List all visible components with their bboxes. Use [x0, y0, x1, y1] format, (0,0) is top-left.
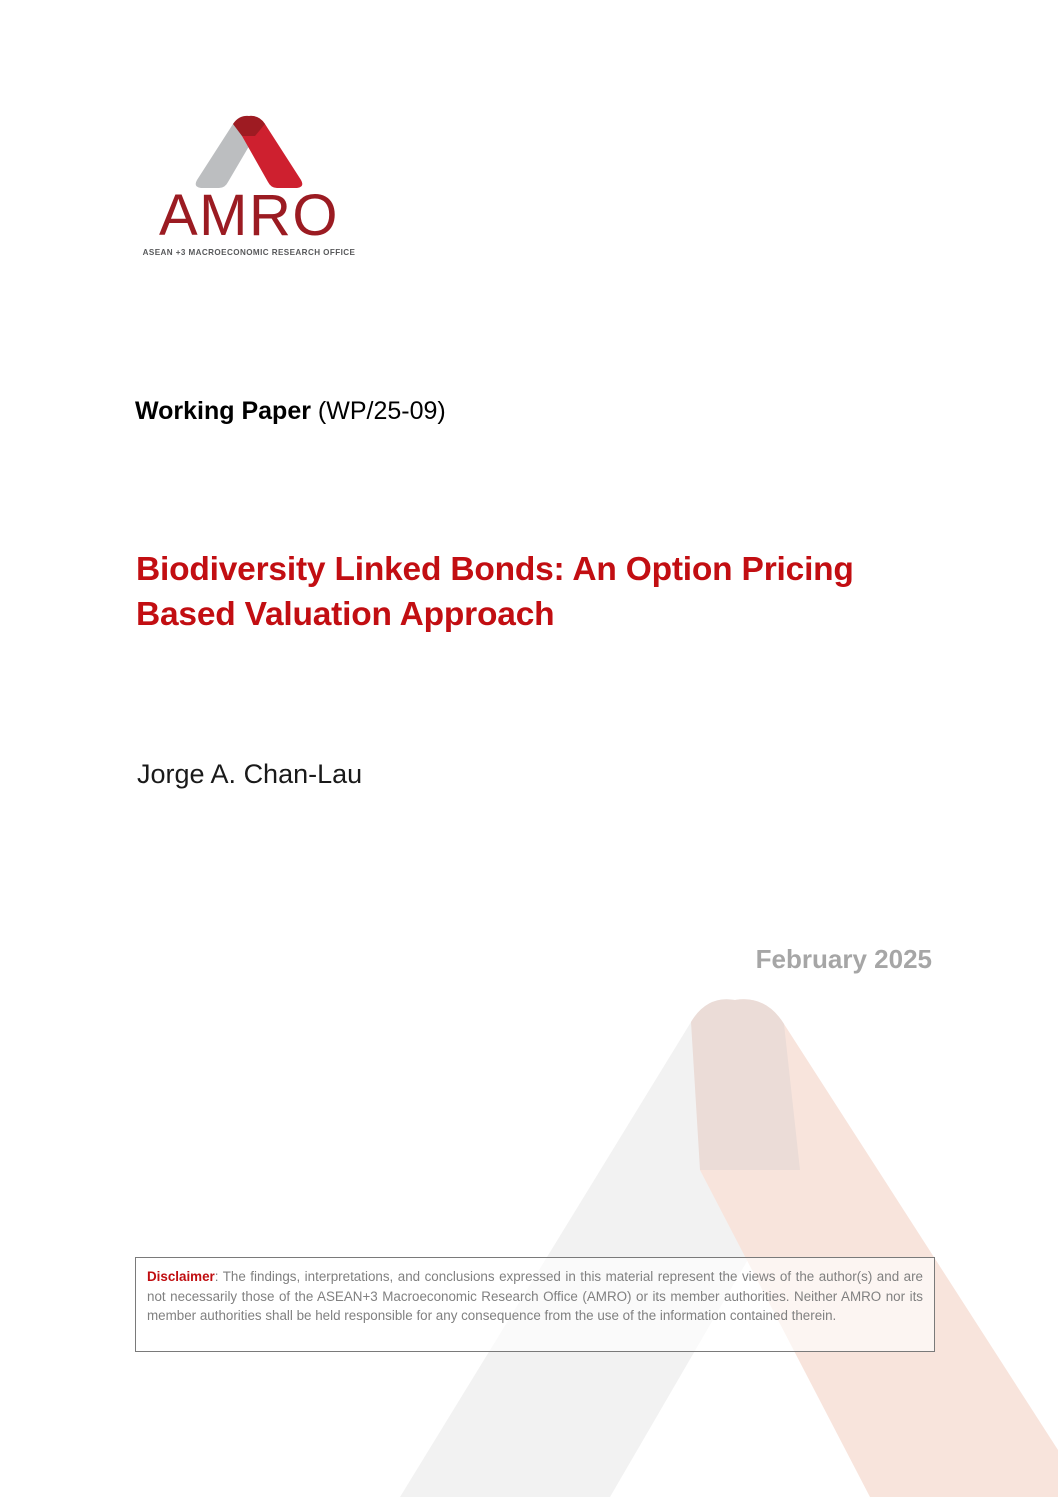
disclaimer-label: Disclaimer [147, 1269, 215, 1284]
cover-page: AMRO ASEAN +3 MACROECONOMIC RESEARCH OFF… [0, 0, 1058, 1497]
watermark-left-stroke [400, 999, 800, 1497]
disclaimer-text: Disclaimer: The findings, interpretation… [147, 1267, 923, 1326]
disclaimer-body: : The findings, interpretations, and con… [147, 1269, 923, 1323]
amro-logo: AMRO ASEAN +3 MACROECONOMIC RESEARCH OFF… [135, 114, 363, 272]
watermark-right-stroke [700, 999, 1058, 1497]
series-label: Working Paper [135, 397, 311, 425]
publication-date: February 2025 [756, 943, 932, 975]
series-number: (WP/25-09) [311, 397, 446, 425]
disclaimer-box: Disclaimer: The findings, interpretation… [135, 1257, 935, 1352]
amro-wordmark: AMRO [135, 188, 363, 244]
working-paper-line: Working Paper (WP/25-09) [135, 396, 446, 426]
author-name: Jorge A. Chan-Lau [137, 757, 362, 791]
watermark-overlap [691, 999, 800, 1170]
amro-a-mark-icon [187, 114, 311, 190]
page-title: Biodiversity Linked Bonds: An Option Pri… [136, 547, 876, 637]
amro-tagline: ASEAN +3 MACROECONOMIC RESEARCH OFFICE [135, 248, 363, 257]
